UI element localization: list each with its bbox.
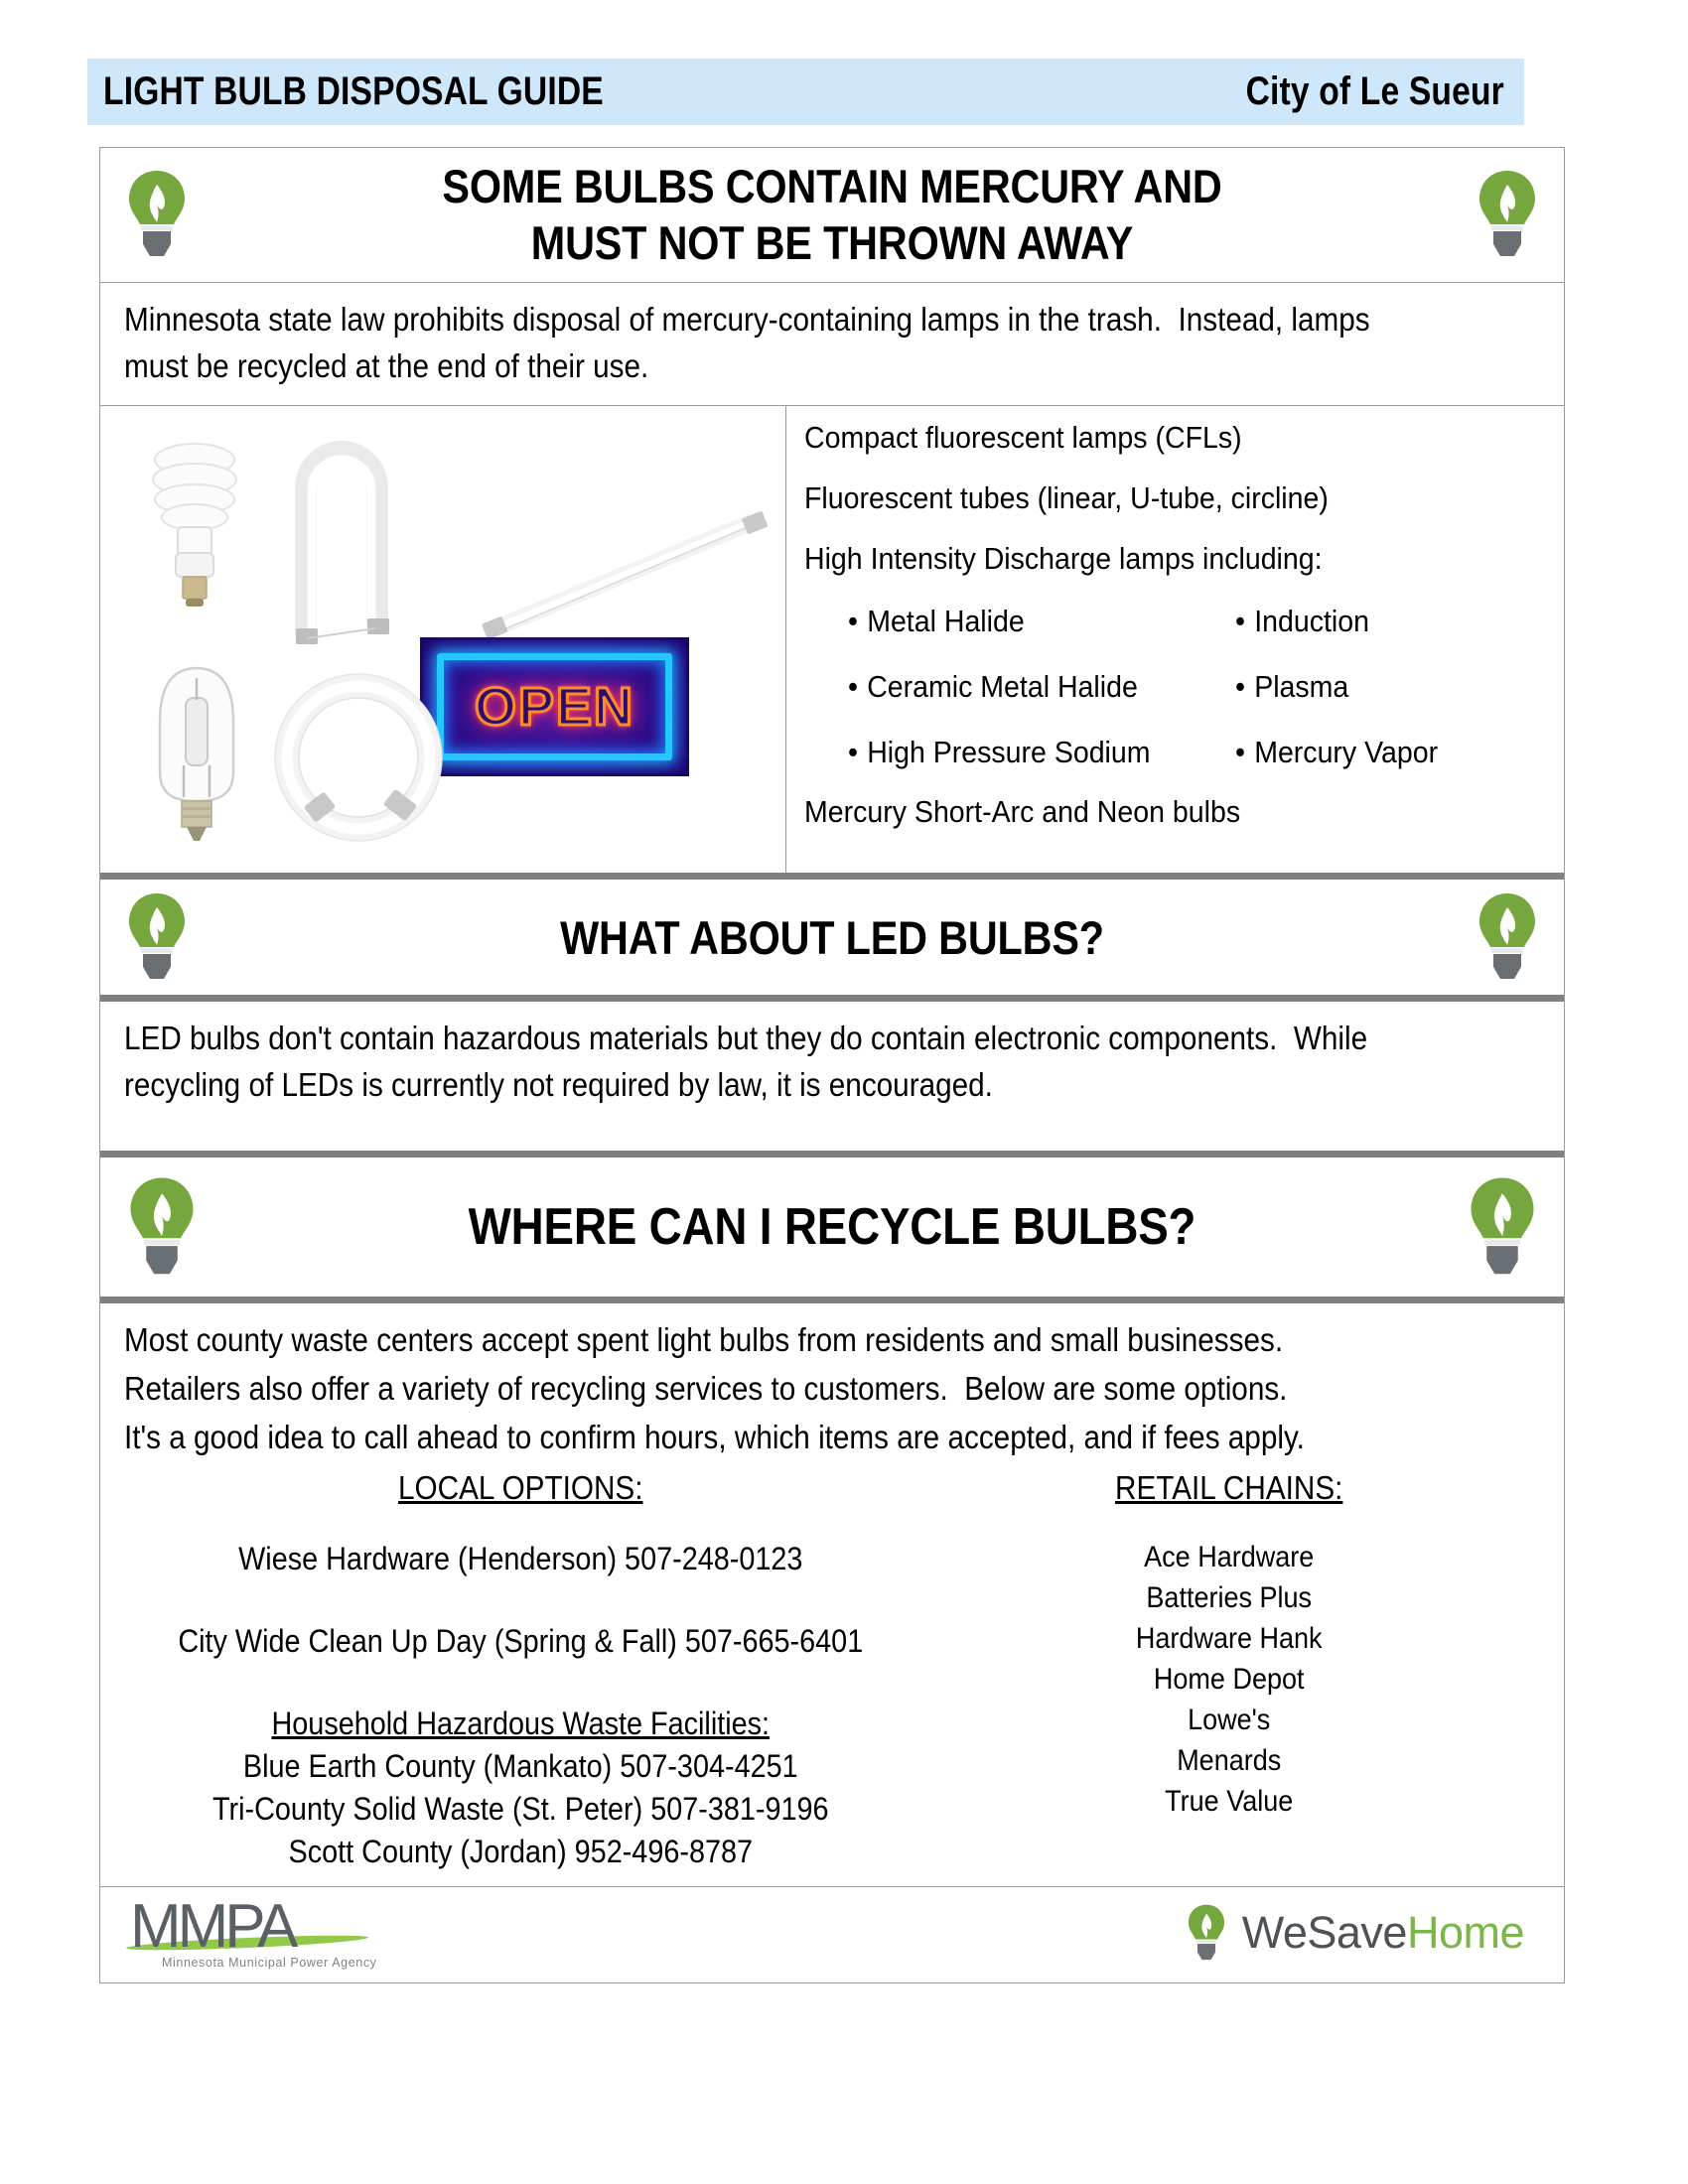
green-bulb-icon xyxy=(1185,1902,1228,1964)
wesavehome-wordmark: WeSaveHome xyxy=(1242,1907,1524,1959)
section-divider xyxy=(100,1297,1564,1303)
green-bulb-icon xyxy=(126,167,188,262)
lamp-types-cell: Compact fluorescent lamps (CFLs) Fluores… xyxy=(786,406,1564,873)
bullet-icon: • xyxy=(848,669,858,704)
recycle-paragraph-line3: It's a good idea to call ahead to confir… xyxy=(124,1415,1398,1461)
green-bulb-icon xyxy=(126,1173,198,1281)
mercury-heading-line2: MUST NOT BE THROWN AWAY xyxy=(265,214,1399,271)
mercury-heading-line1: SOME BULBS CONTAIN MERCURY AND xyxy=(442,160,1221,212)
retail-chains-heading: RETAIL CHAINS: xyxy=(948,1469,1509,1507)
hid-item-label: Plasma xyxy=(1254,669,1348,704)
local-option-item: City Wide Clean Up Day (Spring & Fall) 5… xyxy=(164,1623,878,1660)
led-paragraph: LED bulbs don't contain hazardous materi… xyxy=(124,1016,1398,1109)
hid-list: •Metal Halide •Induction •Ceramic Metal … xyxy=(804,604,1554,770)
light-bulb-disposal-guide-page: LIGHT BULB DISPOSAL GUIDE City of Le Sue… xyxy=(0,0,1688,2184)
u-tube-fluorescent-photo xyxy=(264,418,418,656)
hid-item: •Plasma xyxy=(1235,669,1528,705)
wesavehome-logo: WeSaveHome xyxy=(1185,1902,1524,1964)
hid-item: •Ceramic Metal Halide xyxy=(848,669,1204,705)
green-bulb-icon xyxy=(1467,1173,1538,1281)
cfl-spiral-bulb-photo xyxy=(140,428,249,616)
mercury-paragraph-block: Minnesota state law prohibits disposal o… xyxy=(100,283,1564,406)
metal-halide-bulb-photo xyxy=(142,662,251,846)
bullet-icon: • xyxy=(848,604,858,638)
hhw-heading: Household Hazardous Waste Facilities: xyxy=(164,1706,878,1742)
mercury-banner: SOME BULBS CONTAIN MERCURY AND MUST NOT … xyxy=(100,148,1564,282)
hid-item-label: Induction xyxy=(1254,604,1369,638)
hhw-item: Scott County (Jordan) 952-496-8787 xyxy=(164,1834,878,1870)
bullet-icon: • xyxy=(848,735,858,769)
hid-item-label: Metal Halide xyxy=(867,604,1025,638)
retail-chain-item: Menards xyxy=(948,1744,1509,1778)
recycle-paragraph-line1: Most county waste centers accept spent l… xyxy=(124,1317,1398,1364)
hhw-item: Tri-County Solid Waste (St. Peter) 507-3… xyxy=(164,1791,878,1828)
retail-chain-item: True Value xyxy=(948,1785,1509,1819)
bullet-icon: • xyxy=(1235,669,1245,704)
section-divider xyxy=(100,995,1564,1002)
retail-chain-item: Hardware Hank xyxy=(948,1622,1509,1656)
section-divider xyxy=(100,1151,1564,1158)
hid-item: •Metal Halide xyxy=(848,604,1204,639)
mercury-paragraph: Minnesota state law prohibits disposal o… xyxy=(124,297,1398,390)
mmpa-logo: MMPA Minnesota Municipal Power Agency xyxy=(126,1894,374,1972)
retail-chain-item: Lowe's xyxy=(948,1704,1509,1737)
footer: MMPA Minnesota Municipal Power Agency We… xyxy=(100,1887,1564,1982)
hid-item: •Induction xyxy=(1235,604,1528,639)
page-title: LIGHT BULB DISPOSAL GUIDE xyxy=(103,69,604,114)
recycle-heading: WHERE CAN I RECYCLE BULBS? xyxy=(274,1196,1391,1259)
mercury-heading: SOME BULBS CONTAIN MERCURY AND MUST NOT … xyxy=(265,158,1399,272)
lamp-type-tubes: Fluorescent tubes (linear, U-tube, circl… xyxy=(804,482,1494,513)
mmpa-wordmark: MMPA xyxy=(130,1896,294,1958)
bullet-icon: • xyxy=(1235,604,1245,638)
lamp-types-row: OPEN xyxy=(100,406,1564,873)
mmpa-subtitle: Minnesota Municipal Power Agency xyxy=(162,1956,377,1970)
circline-fluorescent-photo xyxy=(269,672,448,846)
led-heading: WHAT ABOUT LED BULBS? xyxy=(265,909,1399,966)
local-option-item: Wiese Hardware (Henderson) 507-248-0123 xyxy=(164,1541,878,1577)
neon-open-sign-photo: OPEN xyxy=(420,637,689,776)
hhw-item: Blue Earth County (Mankato) 507-304-4251 xyxy=(164,1748,878,1785)
hid-item-label: Ceramic Metal Halide xyxy=(867,669,1138,704)
bullet-icon: • xyxy=(1235,735,1245,769)
retail-chain-item: Ace Hardware xyxy=(948,1541,1509,1574)
wesavehome-part2: Home xyxy=(1407,1907,1524,1958)
recycle-banner: WHERE CAN I RECYCLE BULBS? xyxy=(100,1158,1564,1297)
local-options-column: LOCAL OPTIONS: Wiese Hardware (Henderson… xyxy=(124,1469,917,1876)
recycle-paragraph-block: Most county waste centers accept spent l… xyxy=(100,1303,1564,1467)
led-paragraph-block: LED bulbs don't contain hazardous materi… xyxy=(100,1002,1564,1151)
hid-item-label: Mercury Vapor xyxy=(1254,735,1438,769)
linear-fluorescent-tube-photo xyxy=(476,500,774,649)
hid-item: •Mercury Vapor xyxy=(1235,735,1528,770)
retail-chain-item: Home Depot xyxy=(948,1663,1509,1697)
lamp-type-cfl: Compact fluorescent lamps (CFLs) xyxy=(804,422,1494,453)
hid-item-label: High Pressure Sodium xyxy=(867,735,1150,769)
retail-chain-item: Batteries Plus xyxy=(948,1581,1509,1615)
wesavehome-part1: WeSave xyxy=(1242,1907,1407,1958)
green-bulb-icon xyxy=(1477,167,1538,262)
document-frame: SOME BULBS CONTAIN MERCURY AND MUST NOT … xyxy=(99,147,1565,1983)
lamp-type-shortarc-neon: Mercury Short-Arc and Neon bulbs xyxy=(804,796,1494,827)
page-header-band: LIGHT BULB DISPOSAL GUIDE City of Le Sue… xyxy=(87,59,1524,125)
green-bulb-icon xyxy=(126,889,188,985)
lamp-photos-cell: OPEN xyxy=(100,406,786,873)
led-banner: WHAT ABOUT LED BULBS? xyxy=(100,880,1564,995)
local-options-heading: LOCAL OPTIONS: xyxy=(164,1469,878,1507)
section-divider xyxy=(100,873,1564,880)
green-bulb-icon xyxy=(1477,889,1538,985)
organization-name: City of Le Sueur xyxy=(1246,69,1504,114)
recycling-options: LOCAL OPTIONS: Wiese Hardware (Henderson… xyxy=(100,1467,1564,1886)
hid-item: •High Pressure Sodium xyxy=(848,735,1204,770)
retail-chains-column: RETAIL CHAINS: Ace Hardware Batteries Pl… xyxy=(917,1469,1540,1876)
recycle-paragraph-line2: Retailers also offer a variety of recycl… xyxy=(124,1366,1398,1413)
lamp-type-hid: High Intensity Discharge lamps including… xyxy=(804,543,1494,574)
neon-open-text: OPEN xyxy=(423,676,686,738)
